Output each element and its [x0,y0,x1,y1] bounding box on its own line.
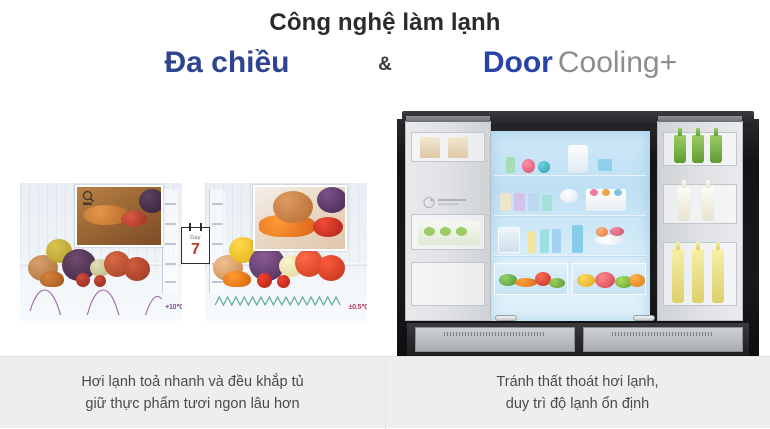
freezer-drawers [407,323,749,356]
door-bin [411,132,485,162]
temperature-label-after: ±0.5℃ [349,303,367,311]
refrigerator-photo [395,105,761,356]
feature-label-door-cooling: DoorCooling+ [430,44,730,87]
day-badge-number: 7 [182,241,209,258]
caption-band: Hơi lạnh toả nhanh và đều khắp tủ giữ th… [0,356,770,428]
door-bin [663,132,737,166]
after-cooling-photo: ±0.5℃ [205,183,367,321]
magnifier-icon [81,190,95,206]
lg-door-badge-icon [422,196,470,209]
door-word: Door [483,46,553,79]
page-title: Công nghệ làm lạnh [0,8,770,38]
right-door-handle [633,315,655,321]
refrigerator-right-door [657,121,743,321]
freezer-drawer-left [415,327,575,352]
door-bin [663,184,737,224]
door-bin [411,262,485,306]
left-door-handle [495,315,517,321]
subtitle-row: Đa chiều & DoorCooling+ [0,44,770,84]
calendar-rings-icon [182,223,209,231]
magnified-inset-after [253,185,347,251]
day-counter-badge: Day 7 [181,227,210,264]
temperature-label-before: +10℃ [165,303,182,311]
caption-left-line2: giữ thực phẩm tươi ngon lâu hơn [85,393,299,415]
right-image-panel [385,96,770,356]
caption-right-line2: duy trì độ lạnh ổn định [506,393,650,415]
before-cooling-photo: +10℃ [20,183,182,321]
left-image-panel: +10℃ Day 7 [0,96,385,356]
temperature-wave-after [213,285,359,315]
magnified-inset-before [75,185,163,247]
feature-label-multi-air: Đa chiều [112,44,342,82]
promo-banner: Công nghệ làm lạnh Đa chiều & DoorCoolin… [0,0,770,428]
door-bin [663,242,737,306]
refrigerator-left-door [405,121,491,321]
door-bin [411,214,485,250]
cooling-word: Cooling+ [558,46,677,79]
caption-right: Tránh thất thoát hơi lạnh, duy trì độ lạ… [385,357,770,429]
freezer-drawer-right [583,327,743,352]
temperature-wave-before [28,285,174,315]
refrigerator-interior [490,131,650,321]
caption-right-line1: Tránh thất thoát hơi lạnh, [496,371,658,393]
ampersand-separator: & [355,49,415,81]
headline-block: Công nghệ làm lạnh Đa chiều & DoorCoolin… [0,0,770,96]
caption-left-line1: Hơi lạnh toả nhanh và đều khắp tủ [81,371,303,393]
caption-left: Hơi lạnh toả nhanh và đều khắp tủ giữ th… [0,357,385,429]
